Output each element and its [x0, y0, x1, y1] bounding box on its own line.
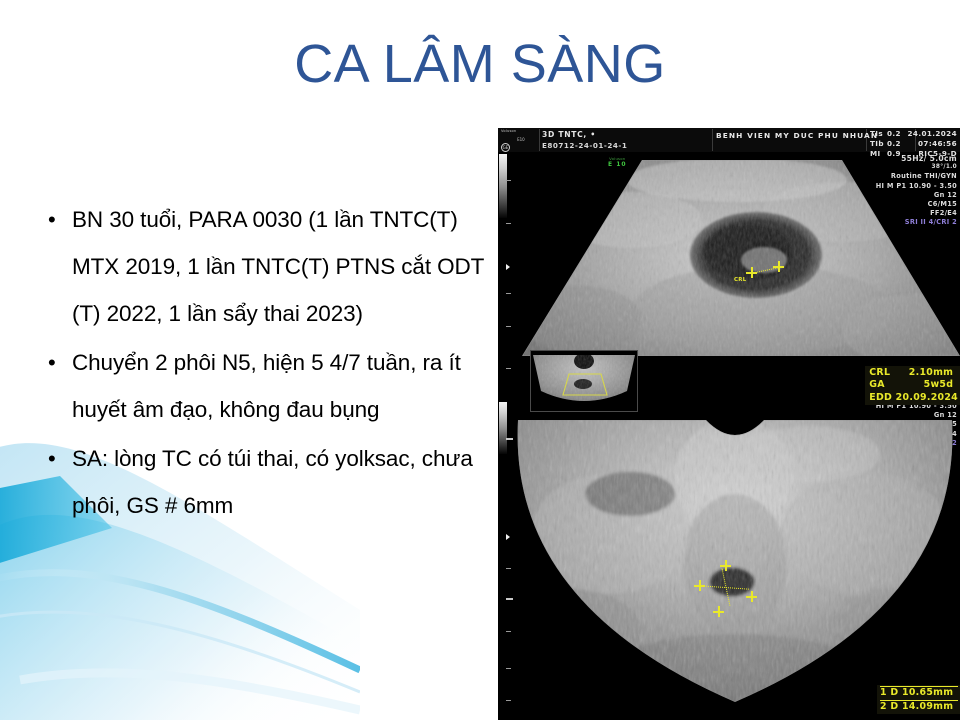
ultrasound-header-bar: Voluson GE E10 3D TNTC, • E80712-24-01-2… [498, 128, 960, 152]
voluson-wordmark: Voluson [501, 129, 537, 134]
ultrasound-image: Voluson GE E10 3D TNTC, • E80712-24-01-2… [498, 128, 960, 720]
distance-measurement-box: 1 D 10.65mm 2 D 14.09mm [877, 685, 960, 714]
bullet-text: SA: lòng TC có túi thai, có yolksac, chư… [72, 435, 494, 529]
ultrasound-sector-top [512, 160, 960, 376]
measurement-row: 1 D 10.65mm [880, 686, 958, 699]
grayscale-bar [499, 402, 507, 454]
measurement-label: CRL [869, 367, 890, 379]
measurement-value: 2.10mm [909, 367, 953, 379]
bullet-glyph: • [42, 339, 72, 386]
caliper-marker [713, 606, 724, 617]
caliper-marker [746, 591, 757, 602]
measurement-row: CRL 2.10mm [869, 367, 953, 379]
bullet-glyph: • [42, 435, 72, 482]
list-item: • Chuyển 2 phôi N5, hiện 5 4/7 tuần, ra … [42, 339, 494, 433]
ultrasound-sector-bottom [510, 414, 960, 714]
study-time: 07:46:56 [908, 139, 957, 149]
index-value: 0.2 [887, 129, 901, 139]
measurement-row: EDD 20.09.2024 [869, 392, 958, 404]
bullet-list: • BN 30 tuổi, PARA 0030 (1 lần TNTC(T) M… [42, 196, 494, 531]
index-row: TIs0.2 [870, 129, 901, 139]
bullet-glyph: • [42, 196, 72, 243]
caliper-label: CRL [734, 277, 746, 283]
study-date: 24.01.2024 [908, 129, 957, 139]
index-value: 0.2 [887, 139, 901, 149]
caliper-marker [773, 261, 784, 272]
measurement-value: 5w5d [924, 379, 954, 391]
grayscale-bar [499, 154, 507, 218]
index-row: TIb0.2 [870, 139, 901, 149]
thumbnail-sector [531, 351, 637, 411]
model-label: E10 [517, 137, 525, 142]
exam-id: E80712-24-01-24-1 [542, 141, 627, 150]
voluson-logo: Voluson GE E10 [501, 129, 537, 151]
depth-tick [506, 368, 511, 369]
depth-tick [506, 293, 511, 294]
depth-tick [506, 223, 511, 224]
list-item: • SA: lòng TC có túi thai, có yolksac, c… [42, 435, 494, 529]
bullet-text: BN 30 tuổi, PARA 0030 (1 lần TNTC(T) MTX… [72, 196, 494, 337]
measurement-row: GA 5w5d [869, 379, 953, 391]
index-key: TIb [870, 139, 887, 149]
hospital-name: BENH VIEN MY DUC PHU NHUAN [716, 131, 878, 140]
thumbnail-preview[interactable] [530, 350, 638, 412]
depth-tick [506, 326, 511, 327]
ge-logo-icon: GE [501, 143, 510, 152]
measurement-row: 2 D 14.09mm [880, 700, 958, 713]
crl-measurement-box: CRL 2.10mm GA 5w5d EDD 20.09.2024 [865, 366, 960, 405]
list-item: • BN 30 tuổi, PARA 0030 (1 lần TNTC(T) M… [42, 196, 494, 337]
depth-tick [506, 180, 511, 181]
page-title: CA LÂM SÀNG [0, 34, 960, 94]
measurement-label: GA [869, 379, 885, 391]
focus-caret-icon [506, 264, 510, 270]
bullet-text: Chuyển 2 phôi N5, hiện 5 4/7 tuần, ra ít… [72, 339, 494, 433]
exam-name: 3D TNTC, • [542, 130, 596, 139]
index-key: TIs [870, 129, 887, 139]
